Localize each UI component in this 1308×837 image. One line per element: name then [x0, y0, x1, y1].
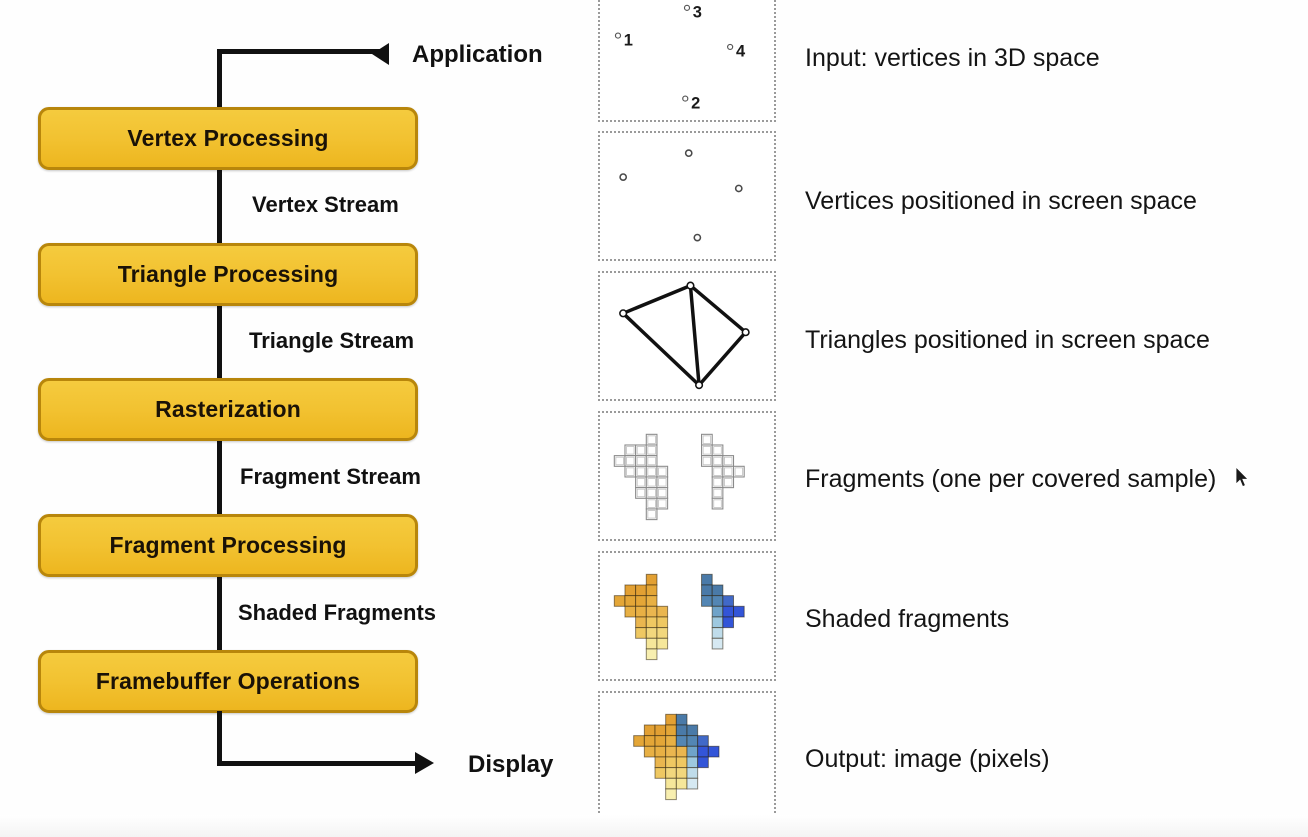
stage-label: Framebuffer Operations [96, 668, 360, 695]
triangles-svg [600, 273, 774, 399]
application-arrowhead-icon [372, 43, 389, 65]
bottom-edge-fade [0, 815, 1308, 837]
application-line-cap [217, 49, 222, 107]
caption-triangles-screen-space: Triangles positioned in screen space [805, 326, 1210, 355]
caption-fragments: Fragments (one per covered sample) [805, 465, 1216, 494]
pipeline-column: Application Vertex Processing Triangle P… [0, 0, 598, 837]
caption-output-image: Output: image (pixels) [805, 745, 1050, 774]
svg-text:4: 4 [736, 43, 746, 61]
stage-label: Fragment Processing [109, 532, 346, 559]
stage-label: Triangle Processing [118, 261, 338, 288]
diagram-canvas: Application Vertex Processing Triangle P… [0, 0, 1308, 837]
stream-label-triangle-stream: Triangle Stream [249, 328, 414, 354]
panel-output-image [598, 691, 776, 821]
display-arrowhead-icon [415, 752, 434, 774]
input-vertices-svg: 1342 [600, 0, 774, 120]
panel-shaded-fragments [598, 551, 776, 681]
application-label: Application [412, 41, 543, 69]
connector-fragment-stream [217, 440, 222, 518]
display-horizontal-line [217, 761, 417, 766]
connector-vertex-stream [217, 168, 222, 246]
panel-triangles-screen-space [598, 271, 776, 401]
caption-shaded-fragments: Shaded fragments [805, 605, 1009, 634]
display-label: Display [468, 751, 553, 779]
stage-box-triangle-processing[interactable]: Triangle Processing [38, 243, 418, 306]
stage-label: Rasterization [155, 396, 301, 423]
fragments-svg [600, 413, 774, 539]
caption-input-vertices-3d: Input: vertices in 3D space [805, 44, 1100, 73]
panel-input-vertices-3d: 1342 [598, 0, 776, 122]
panel-vertices-screen-space [598, 131, 776, 261]
connector-shaded-fragments [217, 575, 222, 653]
svg-text:3: 3 [693, 4, 702, 22]
stream-label-vertex-stream: Vertex Stream [252, 192, 399, 218]
connector-triangle-stream [217, 304, 222, 382]
stage-label: Vertex Processing [127, 125, 328, 152]
stage-box-vertex-processing[interactable]: Vertex Processing [38, 107, 418, 170]
display-line-cap [217, 711, 222, 766]
mouse-cursor-icon [1236, 467, 1250, 489]
panel-fragments [598, 411, 776, 541]
screen-vertices-svg [600, 133, 774, 259]
application-horizontal-line [217, 49, 385, 54]
svg-text:1: 1 [624, 31, 633, 49]
stage-box-fragment-processing[interactable]: Fragment Processing [38, 514, 418, 577]
caption-vertices-screen-space: Vertices positioned in screen space [805, 187, 1197, 216]
stage-box-framebuffer-operations[interactable]: Framebuffer Operations [38, 650, 418, 713]
stage-box-rasterization[interactable]: Rasterization [38, 378, 418, 441]
svg-text:2: 2 [691, 94, 700, 112]
stream-label-shaded-fragments: Shaded Fragments [238, 600, 436, 626]
output-image-svg [600, 693, 774, 819]
stream-label-fragment-stream: Fragment Stream [240, 464, 421, 490]
shaded-fragments-svg [600, 553, 774, 679]
